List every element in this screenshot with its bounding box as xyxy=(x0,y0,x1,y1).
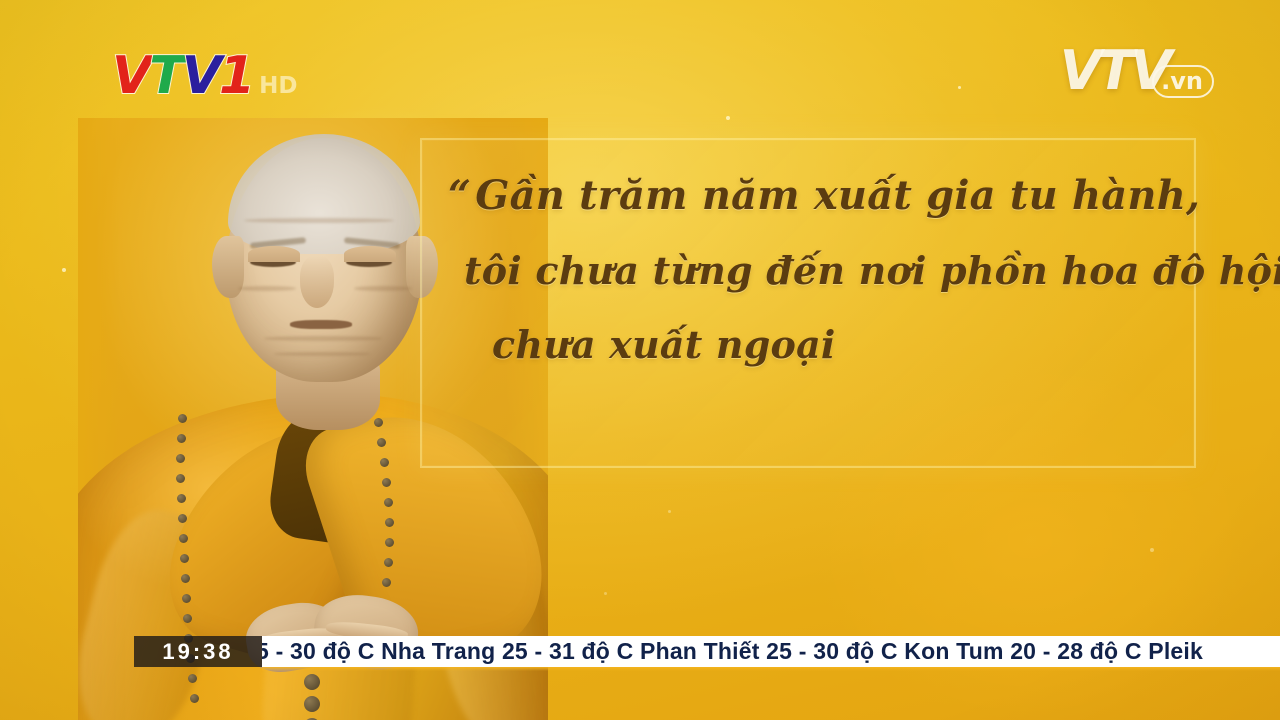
prayer-bead xyxy=(177,494,186,503)
prayer-bead xyxy=(382,578,391,587)
prayer-bead xyxy=(181,574,190,583)
broadcast-screen: “Gần trăm năm xuất gia tu hành, tôi chưa… xyxy=(0,0,1280,720)
quote-line-3: chưa xuất ngoại xyxy=(492,326,1230,364)
prayer-bead xyxy=(179,534,188,543)
sparkle xyxy=(1150,548,1154,552)
clock-time: 19:38 xyxy=(162,639,233,665)
monk-mouth xyxy=(290,320,352,329)
watermark-vtv-vn: VTV .vn xyxy=(1060,46,1214,96)
quote-line-2: tôi chưa từng đến nơi phồn hoa đô hội, xyxy=(464,252,1230,290)
prayer-bead xyxy=(178,414,187,423)
sparkle xyxy=(668,510,671,513)
prayer-bead xyxy=(188,674,197,683)
channel-logo-vtv1: V T V 1 HD xyxy=(112,44,298,100)
logo-letter-t: T xyxy=(149,52,181,100)
sparkle xyxy=(604,592,607,595)
quote-open-mark: “ xyxy=(448,172,471,219)
quote-line-1-text: Gần trăm năm xuất gia tu hành, xyxy=(475,172,1200,219)
prayer-bead xyxy=(176,474,185,483)
watermark-text: VTV xyxy=(1060,46,1168,96)
prayer-bead xyxy=(382,478,391,487)
prayer-bead xyxy=(182,594,191,603)
logo-letter-v2: V xyxy=(182,52,219,100)
quote-block: “Gần trăm năm xuất gia tu hành, tôi chưa… xyxy=(440,176,1230,364)
logo-letter-v1: V xyxy=(112,52,149,100)
sparkle xyxy=(726,116,730,120)
quote-line-1: “Gần trăm năm xuất gia tu hành, xyxy=(448,176,1230,216)
prayer-bead xyxy=(380,458,389,467)
logo-hd-label: HD xyxy=(259,75,297,98)
face-wrinkle xyxy=(274,352,370,356)
prayer-bead xyxy=(374,418,383,427)
prayer-bead xyxy=(377,438,386,447)
prayer-bead xyxy=(304,674,320,690)
prayer-bead xyxy=(183,614,192,623)
sparkle xyxy=(958,86,961,89)
watermark-domain: .vn xyxy=(1152,65,1214,98)
onscreen-clock: 19:38 xyxy=(134,636,262,667)
weather-ticker: 5 - 30 độ C Nha Trang 25 - 31 độ C Phan … xyxy=(262,636,1280,667)
prayer-bead xyxy=(180,554,189,563)
prayer-bead xyxy=(384,498,393,507)
face-wrinkle xyxy=(244,218,394,223)
prayer-bead xyxy=(178,514,187,523)
monk-nose xyxy=(300,256,334,308)
prayer-bead xyxy=(385,538,394,547)
face-wrinkle xyxy=(354,286,412,291)
prayer-bead xyxy=(177,434,186,443)
prayer-bead xyxy=(190,694,199,703)
ticker-underline xyxy=(262,667,1280,671)
face-wrinkle xyxy=(264,336,382,341)
prayer-bead xyxy=(384,558,393,567)
logo-letter-1: 1 xyxy=(219,52,252,100)
monk-eyelid-left xyxy=(248,246,300,262)
prayer-bead xyxy=(385,518,394,527)
monk-eyelid-right xyxy=(344,246,396,262)
prayer-bead xyxy=(304,696,320,712)
face-wrinkle xyxy=(238,286,296,291)
ticker-text: 5 - 30 độ C Nha Trang 25 - 31 độ C Phan … xyxy=(262,638,1203,665)
sparkle xyxy=(62,268,66,272)
prayer-bead xyxy=(176,454,185,463)
